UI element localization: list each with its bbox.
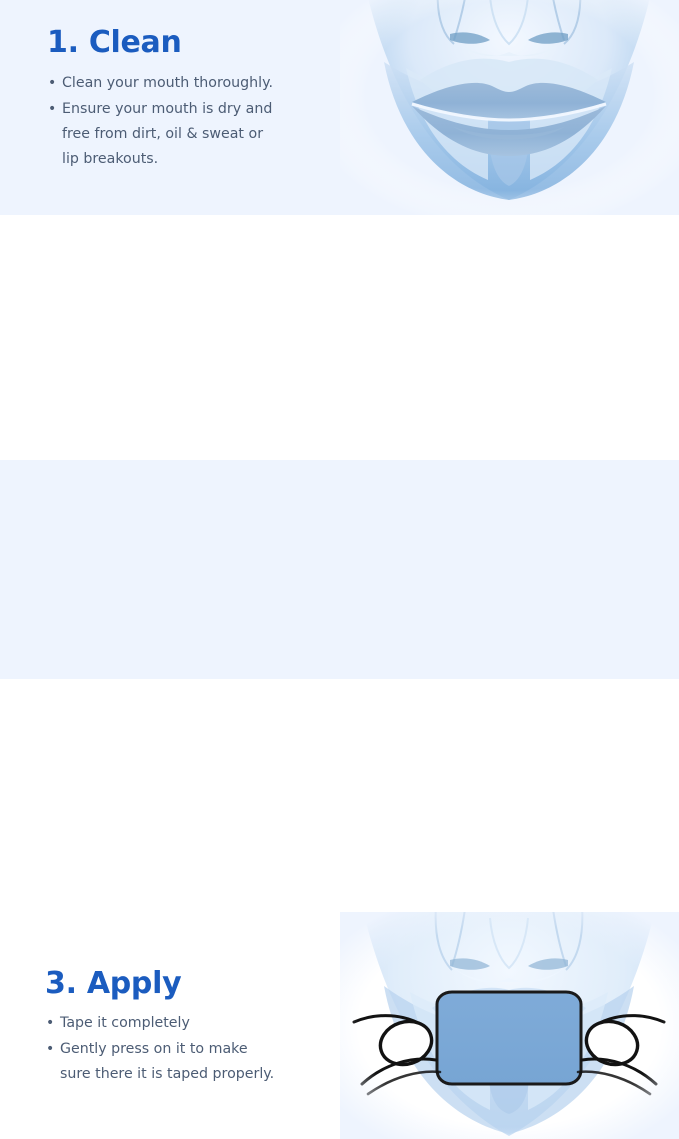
bullet-item: •Clean your mouth thoroughly.: [47, 71, 312, 96]
bullet-item: •Gently press on it to make sure there i…: [45, 1037, 325, 1087]
step-bullets-apply: •Tape it completely •Gently press on it …: [45, 1011, 325, 1087]
bullet-text: Gently press on it to make sure there it…: [60, 1041, 274, 1082]
illustration-tape-applied-over-mouth: [340, 912, 679, 1139]
step-text-apply: 3. Apply •Tape it completely •Gently pre…: [45, 968, 325, 1088]
step-panel-apply: 3. Apply •Tape it completely •Gently pre…: [0, 460, 679, 679]
bullet-dot: •: [48, 97, 56, 122]
bullet-dot: •: [46, 1037, 54, 1062]
bullet-text: Tape it completely: [60, 1015, 190, 1031]
step-bullets-clean: •Clean your mouth thoroughly. •Ensure yo…: [47, 71, 312, 172]
step-text-clean: 1. Clean •Clean your mouth thoroughly. •…: [47, 27, 312, 173]
instruction-infographic: 1. Clean •Clean your mouth thoroughly. •…: [0, 0, 679, 679]
bullet-dot: •: [46, 1011, 54, 1036]
bullet-item: •Tape it completely: [45, 1011, 325, 1036]
illustration-face-with-lips: [340, 0, 679, 220]
step-heading-clean: 1. Clean: [47, 27, 312, 59]
step-heading-apply: 3. Apply: [45, 968, 325, 1000]
step-panel-clean: 1. Clean •Clean your mouth thoroughly. •…: [0, 0, 679, 215]
bullet-text: Ensure your mouth is dry and free from d…: [62, 101, 272, 167]
bullet-text: Clean your mouth thoroughly.: [62, 75, 273, 91]
bullet-dot: •: [48, 71, 56, 96]
step-panel-peel: 2. Peel •Hold the mouth tape with its ad…: [0, 215, 679, 460]
bullet-item: •Ensure your mouth is dry and free from …: [47, 97, 312, 172]
